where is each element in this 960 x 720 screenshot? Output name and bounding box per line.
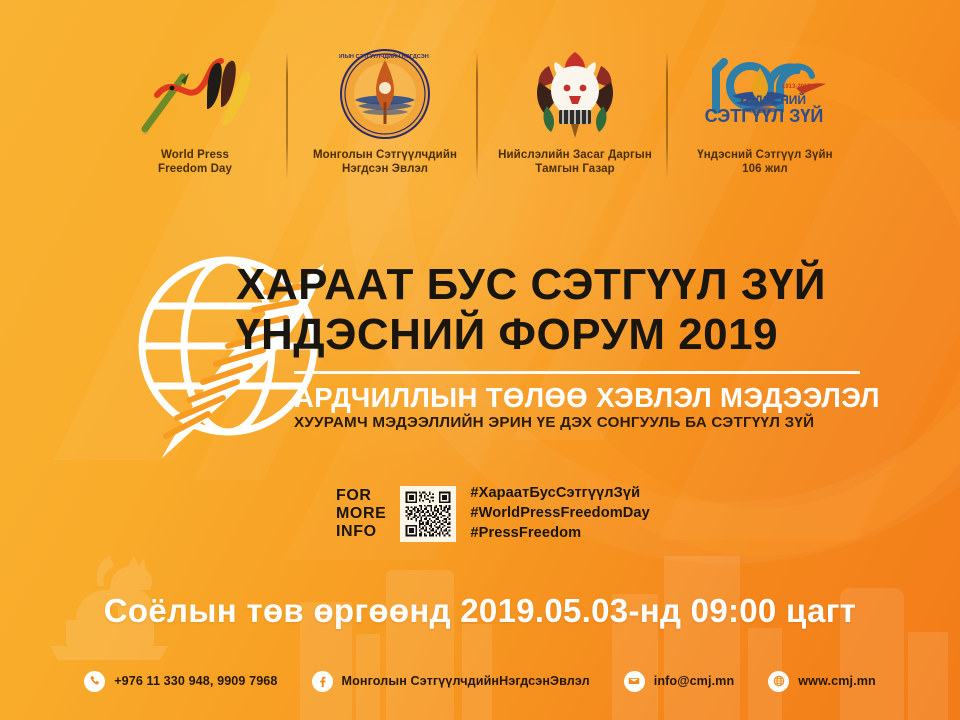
- hero-section: ХАРААТ БУС СЭТГҮҮЛ ЗҮЙ ҮНДЭСНИЙ ФОРУМ 20…: [0, 236, 960, 466]
- hashtag-item: #PressFreedom: [470, 524, 649, 543]
- logo-caption-line2: Freedom Day: [158, 162, 232, 176]
- logo-cell-national-journalism-106: 1913-2019 ҮНДЭСНИЙ СЭТГҮҮЛ ЗҮЙ Үндэсний …: [670, 46, 860, 176]
- email-icon: [624, 671, 645, 692]
- title-line-1: ХАРААТ БУС СЭТГҮҮЛ ЗҮЙ: [236, 260, 896, 310]
- contact-phone[interactable]: +976 11 330 948, 9909 7968: [84, 671, 277, 692]
- logo-caption-line1: World Press: [158, 148, 232, 162]
- subtitle: АРДЧИЛЛЫН ТӨЛӨӨ ХЭВЛЭЛ МЭДЭЭЛЭЛ: [294, 382, 896, 413]
- svg-text:СЭТГҮҮЛ ЗҮЙ: СЭТГҮҮЛ ЗҮЙ: [705, 105, 824, 126]
- logo-caption-line2: Тамгын Газар: [498, 162, 652, 176]
- event-dateline: Соёлын төв өргөөнд 2019.05.03-нд 09:00 ц…: [0, 592, 960, 630]
- svg-text:ҮНДЭСНИЙ: ҮНДЭСНИЙ: [739, 92, 806, 107]
- contact-facebook[interactable]: Монголын СэтгүүлчдийнНэгдсэнЭвлэл: [312, 671, 590, 692]
- logo-caption-line1: Монголын Сэтгүүлчдийн: [313, 148, 457, 162]
- logo-cell-mongolian-journalists-union: МОНГОЛЫН СЭТГҮҮЛЧДИЙН НЭГДСЭН ЭВЛЭЛ Монг…: [290, 46, 480, 176]
- contact-footer: +976 11 330 948, 9909 7968 Монголын Сэтг…: [0, 664, 960, 698]
- logo-cell-world-press-freedom-day: World Press Freedom Day: [100, 46, 290, 176]
- logo-caption: World Press Freedom Day: [158, 148, 232, 176]
- logo-caption-line2: 106 жил: [697, 162, 832, 176]
- logo-caption: Нийслэлийн Засаг Даргын Тамгын Газар: [498, 148, 652, 176]
- logo-divider: [286, 52, 288, 180]
- contact-email-text: info@cmj.mn: [654, 674, 735, 688]
- logo-divider: [476, 52, 478, 180]
- svg-text:1913-2019: 1913-2019: [782, 84, 811, 90]
- logo-caption-line1: Үндэсний Сэтгүүл Зүйн: [697, 148, 832, 162]
- hashtag-list: #ХараатБусСэтгүүлЗүй #WorldPressFreedomD…: [470, 484, 649, 543]
- for-more-info-line2: MORE: [336, 505, 386, 523]
- contact-website-text: www.cmj.mn: [798, 674, 876, 688]
- contact-email[interactable]: info@cmj.mn: [624, 671, 735, 692]
- title-line-2: ҮНДЭСНИЙ ФОРУМ 2019: [236, 310, 896, 360]
- title-block: ХАРААТ БУС СЭТГҮҮЛ ЗҮЙ ҮНДЭСНИЙ ФОРУМ 20…: [236, 260, 896, 432]
- logo-cell-city-governor-office: Нийслэлийн Засаг Даргын Тамгын Газар: [480, 46, 670, 176]
- contact-website[interactable]: www.cmj.mn: [768, 671, 876, 692]
- tagline: ХУУРАМЧ МЭДЭЭЛЛИЙН ЭРИН ҮЕ ДЭХ СОНГУУЛЬ …: [294, 413, 896, 432]
- globe-icon: [768, 671, 789, 692]
- qr-code[interactable]: [400, 486, 456, 542]
- poster-canvas: World Press Freedom Day: [0, 0, 960, 720]
- sponsor-logo-row: World Press Freedom Day: [0, 46, 960, 196]
- logo-caption: Үндэсний Сэтгүүл Зүйн 106 жил: [697, 148, 832, 176]
- national-journalism-106-years-logo: 1913-2019 ҮНДЭСНИЙ СЭТГҮҮЛ ЗҮЙ: [702, 46, 828, 142]
- hashtag-item: #WorldPressFreedomDay: [470, 504, 649, 523]
- logo-caption-line1: Нийслэлийн Засаг Даргын: [498, 148, 652, 162]
- svg-text:МОНГОЛЫН СЭТГҮҮЛЧДИЙН НЭГДСЭН: МОНГОЛЫН СЭТГҮҮЛЧДИЙН НЭГДСЭН ЭВЛЭЛ: [339, 52, 431, 60]
- contact-facebook-text: Монголын СэтгүүлчдийнНэгдсэнЭвлэл: [342, 674, 590, 688]
- for-more-info-label: FOR MORE INFO: [336, 487, 386, 541]
- contact-phone-text: +976 11 330 948, 9909 7968: [114, 674, 277, 688]
- phone-icon: [84, 671, 105, 692]
- for-more-info-line3: INFO: [336, 523, 386, 541]
- hashtag-item: #ХараатБусСэтгүүлЗүй: [470, 484, 649, 503]
- world-press-freedom-day-logo: [135, 46, 255, 142]
- logo-divider: [666, 52, 668, 180]
- more-info-block: FOR MORE INFO: [336, 484, 650, 543]
- title-divider-rule: [294, 371, 860, 374]
- ulaanbaatar-city-governor-office-emblem: [525, 46, 625, 142]
- logo-caption: Монголын Сэтгүүлчдийн Нэгдсэн Эвлэл: [313, 148, 457, 176]
- facebook-icon: [312, 671, 333, 692]
- for-more-info-line1: FOR: [336, 487, 386, 505]
- mongolian-journalists-union-emblem: МОНГОЛЫН СЭТГҮҮЛЧДИЙН НЭГДСЭН ЭВЛЭЛ: [339, 46, 431, 142]
- logo-caption-line2: Нэгдсэн Эвлэл: [313, 162, 457, 176]
